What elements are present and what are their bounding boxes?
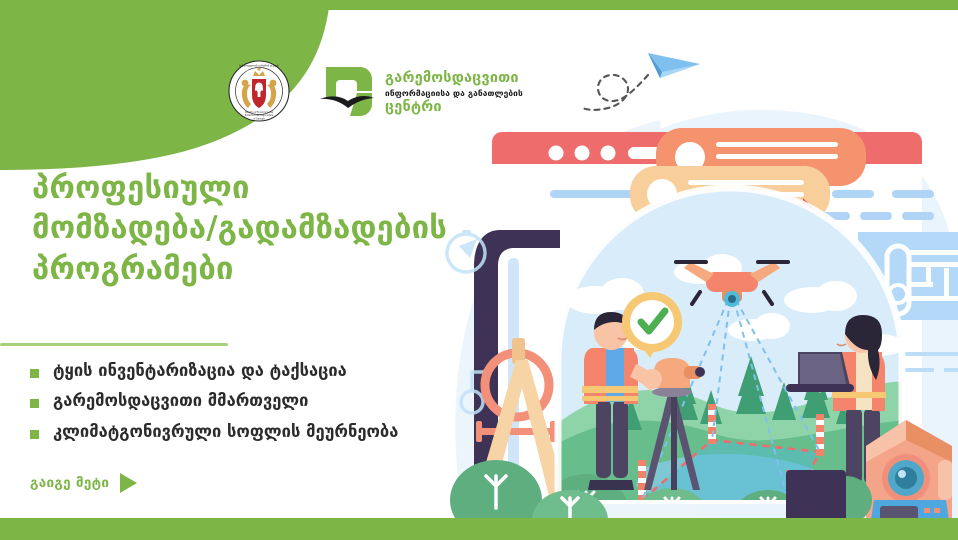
banner-root: საქართველოს გარემოს დაცვის Ministry of E… [0,0,958,540]
list-item: კლიმატგონივრული სოფლის მეურნეობა [30,421,530,442]
page-title: პროფესიული მომზადება/გადამზადების პროგრა… [32,168,502,289]
list-item-label: კლიმატგონივრული სოფლის მეურნეობა [53,421,398,442]
learn-more-label: გაიგე მეტი [30,475,109,491]
svg-text:of Georgia: of Georgia [253,117,265,120]
bottom-green-bar-top [0,518,958,540]
window-dot-3 [601,146,616,161]
list-item-label: გარემოსდაცვითი მმართველი [53,390,308,411]
program-list: ტყის ინვენტარიზაცია და ტაქსაცია გარემოსდ… [30,360,530,451]
organization-logo: გარემოსდაცვითი ინფორმაციისა და განათლები… [318,65,523,121]
bullet-square-icon [30,399,39,408]
logo-row: საქართველოს გარემოს დაცვის Ministry of E… [228,58,523,128]
list-item: ტყის ინვენტარიზაცია და ტაქსაცია [30,360,530,381]
bullet-square-icon [30,369,39,378]
list-item: გარემოსდაცვითი მმართველი [30,390,530,411]
title-divider [0,343,228,346]
window-dot-1 [549,146,564,161]
brand-line-2: ინფორმაციისა და განათლების [385,89,523,97]
learn-more-button[interactable]: გაიგე მეტი [30,473,137,493]
list-item-label: ტყის ინვენტარიზაცია და ტაქსაცია [53,360,347,381]
svg-text:საქართველოს გარემოს დაცვის: საქართველოს გარემოს დაცვის [239,64,279,68]
play-triangle-icon [120,473,137,493]
window-dot-2 [575,146,590,161]
brand-line-1: გარემოსდაცვითი [385,71,523,86]
bullet-square-icon [30,430,39,439]
text-panel: პროფესიული მომზადება/გადამზადების პროგრა… [32,168,502,289]
open-book-logo [318,65,376,121]
georgia-ministry-coat-of-arms: საქართველოს გარემოს დაცვის Ministry of E… [228,58,290,128]
brand-line-3: ცენტრი [385,100,523,115]
